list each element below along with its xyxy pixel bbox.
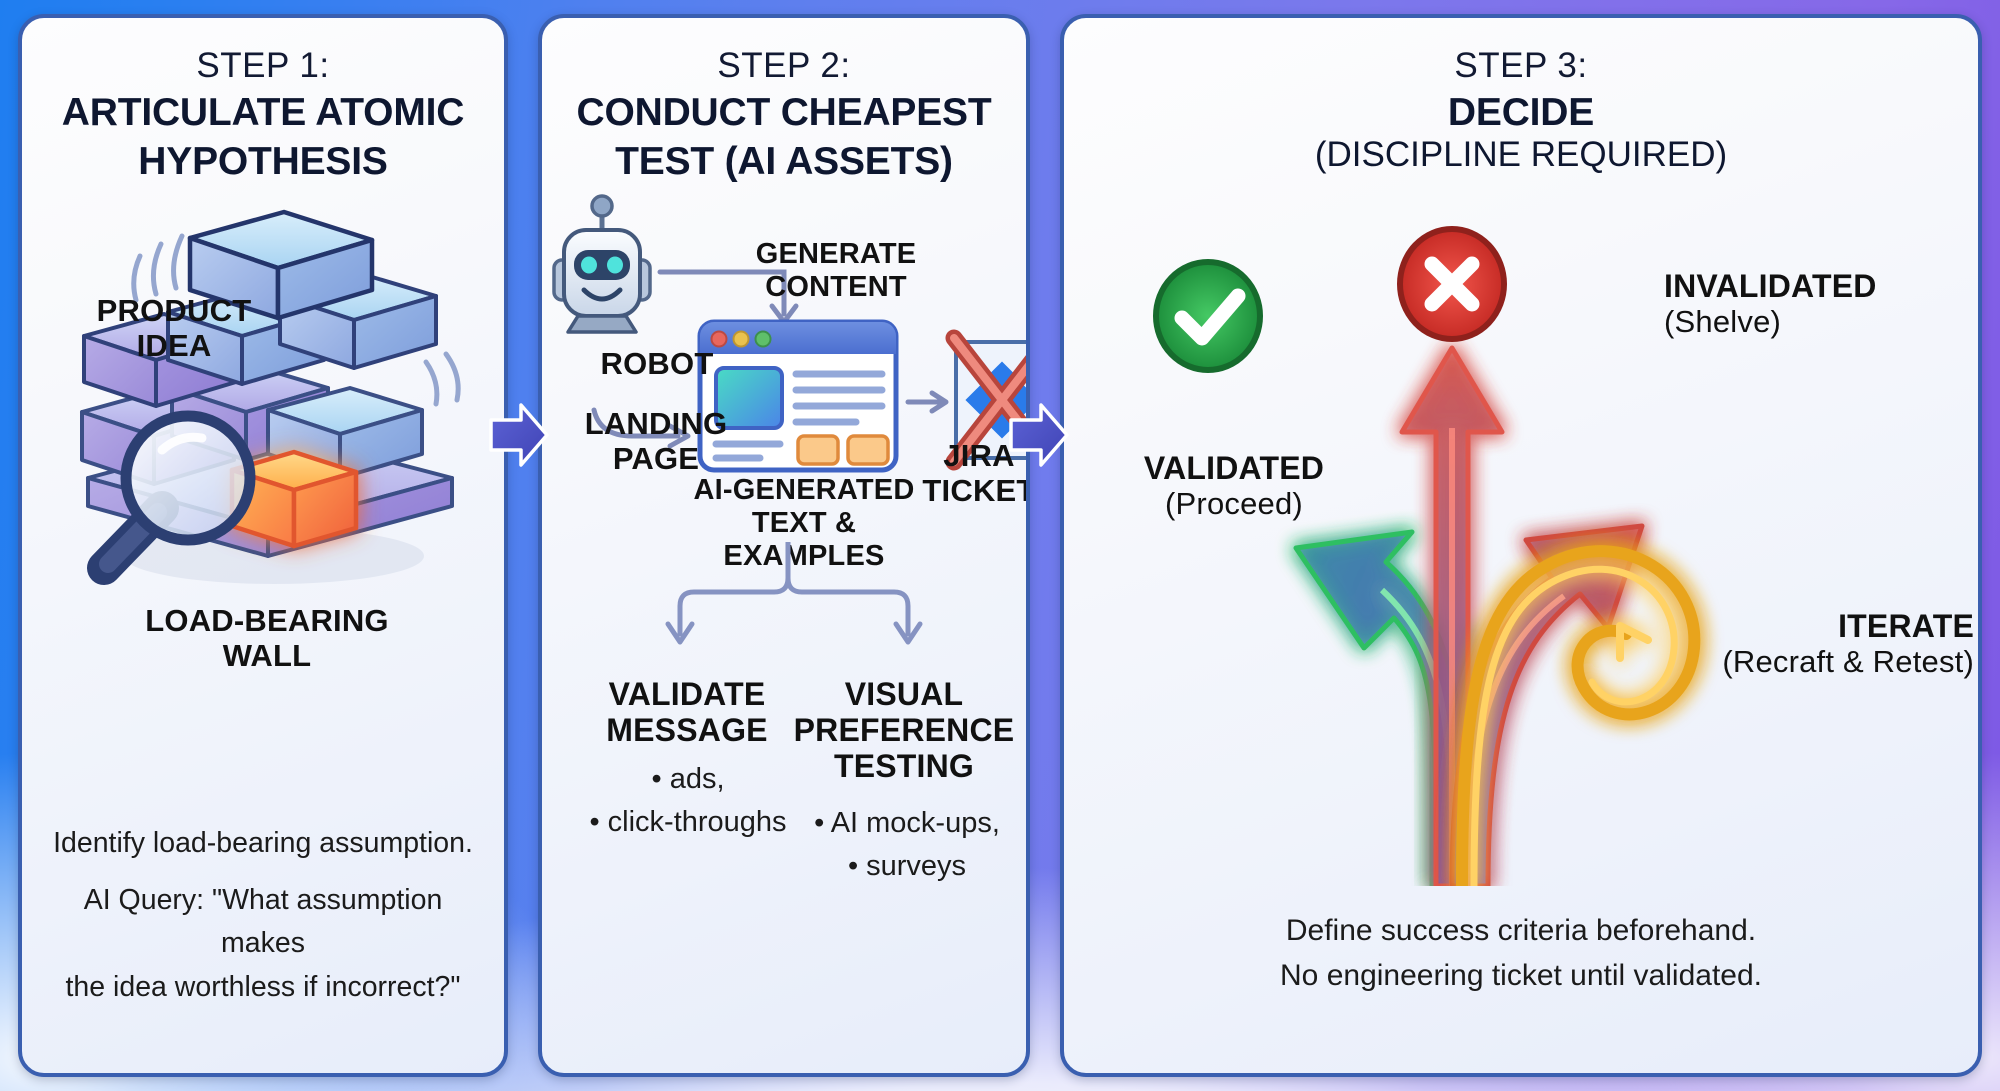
panel-1-footnote: Identify load-bearing assumption. AI Que… [22, 822, 504, 1009]
validate-message-bullets: • ads, • click-throughs [576, 758, 800, 844]
step-1-title-line1: ARTICULATE ATOMIC [22, 90, 504, 135]
landing-page-label: LANDING PAGE [558, 406, 754, 476]
panel-3-footnote: Define success criteria beforehand. No e… [1064, 908, 1978, 999]
step-3-title-line1: DECIDE [1064, 90, 1978, 135]
product-idea-label: PRODUCT IDEA [64, 293, 284, 363]
arrow-step2-to-step3 [1008, 398, 1070, 472]
step-3-title-line2: (DISCIPLINE REQUIRED) [1064, 135, 1978, 176]
x-circle-icon [1400, 229, 1504, 339]
panel-2-header: STEP 2: CONDUCT CHEAPEST TEST (AI ASSETS… [542, 18, 1026, 185]
check-circle-icon [1156, 262, 1260, 370]
visual-preference-testing-heading: VISUAL PREFERENCE TESTING [792, 676, 1016, 784]
panel-3-footnote-line1: Define success criteria beforehand. [1090, 908, 1952, 954]
step-1-kicker: STEP 1: [22, 46, 504, 86]
panel-1-footnote-line1: Identify load-bearing assumption. [38, 822, 488, 865]
branch-split-arrows [542, 542, 1030, 672]
panel-step-2: STEP 2: CONDUCT CHEAPEST TEST (AI ASSETS… [538, 14, 1030, 1077]
load-bearing-wall-label: LOAD-BEARING WALL [82, 603, 452, 673]
infographic-stage: STEP 1: ARTICULATE ATOMIC HYPOTHESIS [0, 0, 2000, 1091]
validated-label: VALIDATED (Proceed) [1094, 450, 1374, 521]
page-to-jira-arrow [908, 393, 946, 411]
panel-1-footnote-line2: AI Query: "What assumption makes [38, 879, 488, 966]
step-2-title-line2: TEST (AI ASSETS) [542, 139, 1026, 184]
validate-message-heading: VALIDATE MESSAGE [584, 676, 790, 748]
step-2-title-line1: CONDUCT CHEAPEST [542, 90, 1026, 135]
invalidated-label: INVALIDATED (Shelve) [1664, 268, 1954, 339]
panel-1-footnote-line3: the idea worthless if incorrect?" [38, 966, 488, 1009]
step-3-kicker: STEP 3: [1064, 46, 1978, 86]
generate-content-label: GENERATE CONTENT [686, 238, 986, 304]
arrow-step1-to-step2 [488, 398, 550, 472]
visual-preference-bullets: • AI mock-ups, • surveys [792, 802, 1022, 888]
panel-3-header: STEP 3: DECIDE (DISCIPLINE REQUIRED) [1064, 18, 1978, 176]
panel-3-footnote-line2: No engineering ticket until validated. [1090, 953, 1952, 999]
iterate-label: ITERATE (Recraft & Retest) [1624, 608, 1974, 679]
panel-step-3: STEP 3: DECIDE (DISCIPLINE REQUIRED) [1060, 14, 1982, 1077]
step-2-kicker: STEP 2: [542, 46, 1026, 86]
robot-label: ROBOT [572, 346, 742, 381]
panel-1-header: STEP 1: ARTICULATE ATOMIC HYPOTHESIS [22, 18, 504, 185]
robot-icon [554, 196, 650, 332]
panel-step-1: STEP 1: ARTICULATE ATOMIC HYPOTHESIS [18, 14, 508, 1077]
